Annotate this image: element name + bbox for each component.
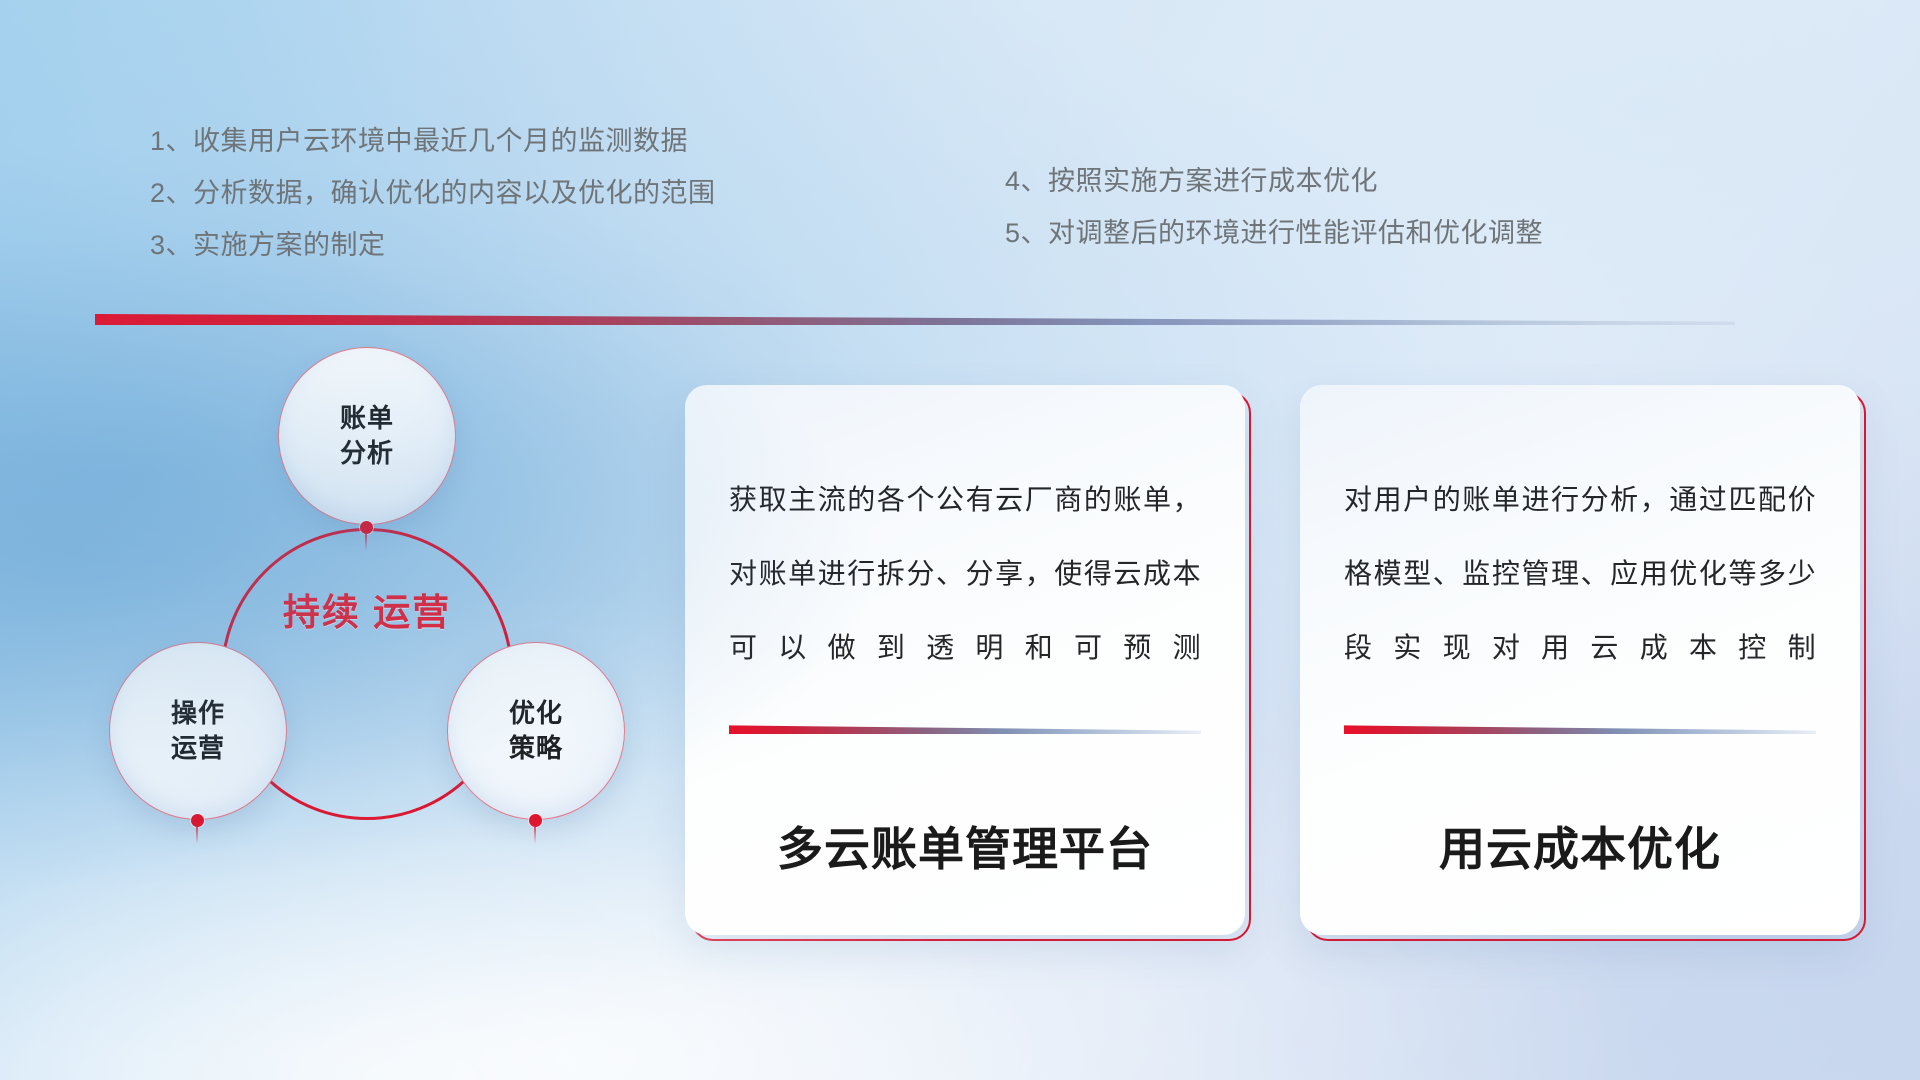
cycle-center-label-line2: 运营 (373, 592, 451, 633)
card-surface: 获取主流的各个公有云厂商的账单，对账单进行拆分、分享，使得云成本可以做到透明和可… (685, 385, 1245, 935)
card-title: 多云账单管理平台 (729, 813, 1201, 879)
cycle-node-bill-analysis[interactable]: 账单 分析 (278, 347, 456, 525)
card-divider-gradient-bar (1344, 725, 1816, 734)
cycle-node-optimization-strategy[interactable]: 优化 策略 (447, 642, 625, 820)
cycle-node-operations-line1: 操作 (171, 696, 225, 731)
cycle-node-bill-analysis-line1: 账单 (340, 401, 394, 436)
section-divider (95, 313, 1735, 327)
divider-gradient-bar (95, 313, 1735, 325)
cycle-node-optimization-strategy-line1: 优化 (509, 696, 563, 731)
step-item-5: 5、对调整后的环境进行性能评估和优化调整 (1005, 207, 1543, 259)
card-divider-gradient-bar (729, 725, 1201, 734)
card-body-text: 获取主流的各个公有云厂商的账单，对账单进行拆分、分享，使得云成本可以做到透明和可… (729, 463, 1201, 685)
cycle-connector-tick-top (365, 534, 367, 551)
card-body-text: 对用户的账单进行分析，通过匹配价格模型、监控管理、应用优化等多少段实现对用云成本… (1344, 463, 1816, 685)
feature-card-multicloud-billing[interactable]: 获取主流的各个公有云厂商的账单，对账单进行拆分、分享，使得云成本可以做到透明和可… (685, 385, 1245, 935)
cycle-connector-tick-bottom-left (196, 827, 198, 844)
step-item-4: 4、按照实施方案进行成本优化 (1005, 155, 1543, 207)
cycle-connector-tick-bottom-right (534, 827, 536, 844)
card-divider (729, 725, 1201, 735)
slide-canvas: 1、收集用户云环境中最近几个月的监测数据 2、分析数据，确认优化的内容以及优化的… (0, 0, 1920, 1080)
cycle-node-bill-analysis-line2: 分析 (340, 436, 394, 471)
cycle-diagram: 持续 运营 账单 分析 操作 运营 优化 策略 (95, 350, 635, 960)
cycle-node-optimization-strategy-line2: 策略 (509, 731, 563, 766)
steps-list-right: 4、按照实施方案进行成本优化 5、对调整后的环境进行性能评估和优化调整 (1005, 155, 1543, 259)
step-item-3: 3、实施方案的制定 (150, 219, 716, 271)
cycle-connector-dot-bottom-right (529, 814, 542, 827)
card-surface: 对用户的账单进行分析，通过匹配价格模型、监控管理、应用优化等多少段实现对用云成本… (1300, 385, 1860, 935)
steps-list-left: 1、收集用户云环境中最近几个月的监测数据 2、分析数据，确认优化的内容以及优化的… (150, 115, 716, 271)
cycle-center-label: 持续 运营 (221, 590, 513, 636)
step-item-2: 2、分析数据，确认优化的内容以及优化的范围 (150, 167, 716, 219)
cycle-connector-dot-top (360, 521, 373, 534)
card-title: 用云成本优化 (1344, 813, 1816, 879)
cycle-node-operations[interactable]: 操作 运营 (109, 642, 287, 820)
feature-card-cloud-cost-optimization[interactable]: 对用户的账单进行分析，通过匹配价格模型、监控管理、应用优化等多少段实现对用云成本… (1300, 385, 1860, 935)
cycle-connector-dot-bottom-left (191, 814, 204, 827)
cycle-node-operations-line2: 运营 (171, 731, 225, 766)
card-divider (1344, 725, 1816, 735)
cycle-center-label-line1: 持续 (283, 592, 361, 633)
step-item-1: 1、收集用户云环境中最近几个月的监测数据 (150, 115, 716, 167)
